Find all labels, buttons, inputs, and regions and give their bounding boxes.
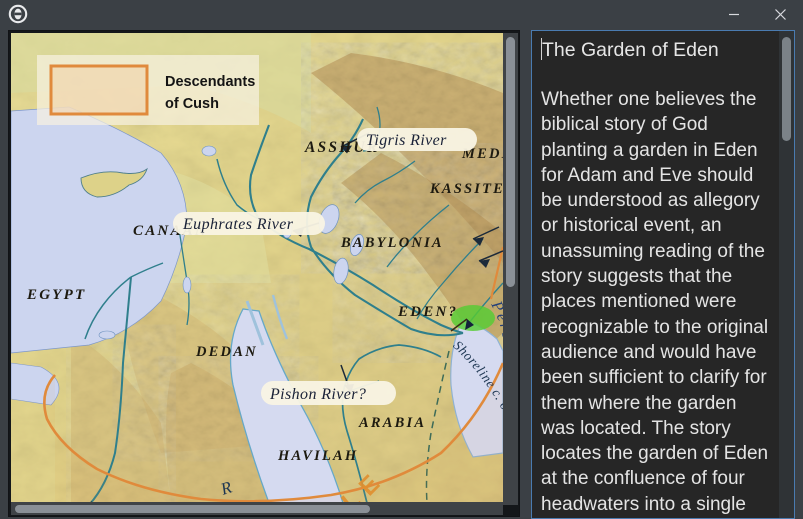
- legend-label-line1: Descendants: [165, 74, 255, 90]
- map-river-label-pishon: Pishon River?: [261, 381, 396, 405]
- map-label-arabia: ARABIA: [358, 415, 426, 431]
- map-label-eden: EDEN?: [397, 304, 458, 320]
- text-vertical-scrollbar[interactable]: [779, 31, 794, 518]
- map-legend: Descendants of Cush: [37, 55, 259, 125]
- content-area: ASSHUR MEDIA KASSITES CANAAN BABYLONIA E…: [0, 28, 803, 519]
- svg-text:Tigris River: Tigris River: [366, 132, 447, 149]
- map-label-kassites: KASSITES: [429, 181, 503, 197]
- map-label-dedan: DEDAN: [195, 344, 258, 360]
- document-title-row: The Garden of Eden: [541, 37, 771, 63]
- app-globe-icon: [4, 0, 32, 28]
- document-spacer: [541, 63, 771, 87]
- map-vertical-scrollbar-thumb[interactable]: [506, 37, 515, 287]
- map-river-label-euphrates: Euphrates River: [173, 212, 325, 235]
- svg-text:Pishon River?: Pishon River?: [269, 386, 366, 403]
- map-horizontal-scrollbar[interactable]: [11, 502, 503, 515]
- map-label-havilah: HAVILAH: [277, 448, 358, 464]
- map-image[interactable]: ASSHUR MEDIA KASSITES CANAAN BABYLONIA E…: [11, 33, 503, 505]
- text-vertical-scrollbar-thumb[interactable]: [782, 37, 791, 141]
- minimize-button[interactable]: [711, 0, 757, 28]
- close-button[interactable]: [757, 0, 803, 28]
- legend-label-line2: of Cush: [165, 96, 219, 112]
- map-horizontal-scrollbar-thumb[interactable]: [15, 505, 370, 513]
- map-vertical-scrollbar[interactable]: [503, 33, 518, 505]
- document-paragraph: Whether one believes the biblical story …: [541, 87, 771, 518]
- map-label-babylonia: BABYLONIA: [340, 235, 444, 251]
- app-window: ASSHUR MEDIA KASSITES CANAAN BABYLONIA E…: [0, 0, 803, 519]
- map-panel[interactable]: ASSHUR MEDIA KASSITES CANAAN BABYLONIA E…: [8, 30, 520, 517]
- map-viewport[interactable]: ASSHUR MEDIA KASSITES CANAAN BABYLONIA E…: [11, 33, 503, 505]
- title-bar[interactable]: [0, 0, 803, 28]
- document-title: The Garden of Eden: [542, 39, 719, 61]
- svg-text:Euphrates River: Euphrates River: [182, 216, 294, 233]
- document-editor[interactable]: The Garden of Eden Whether one believes …: [532, 31, 779, 518]
- text-panel[interactable]: The Garden of Eden Whether one believes …: [531, 30, 795, 519]
- map-river-label-tigris: Tigris River: [357, 128, 477, 151]
- map-label-egypt: EGYPT: [26, 287, 86, 303]
